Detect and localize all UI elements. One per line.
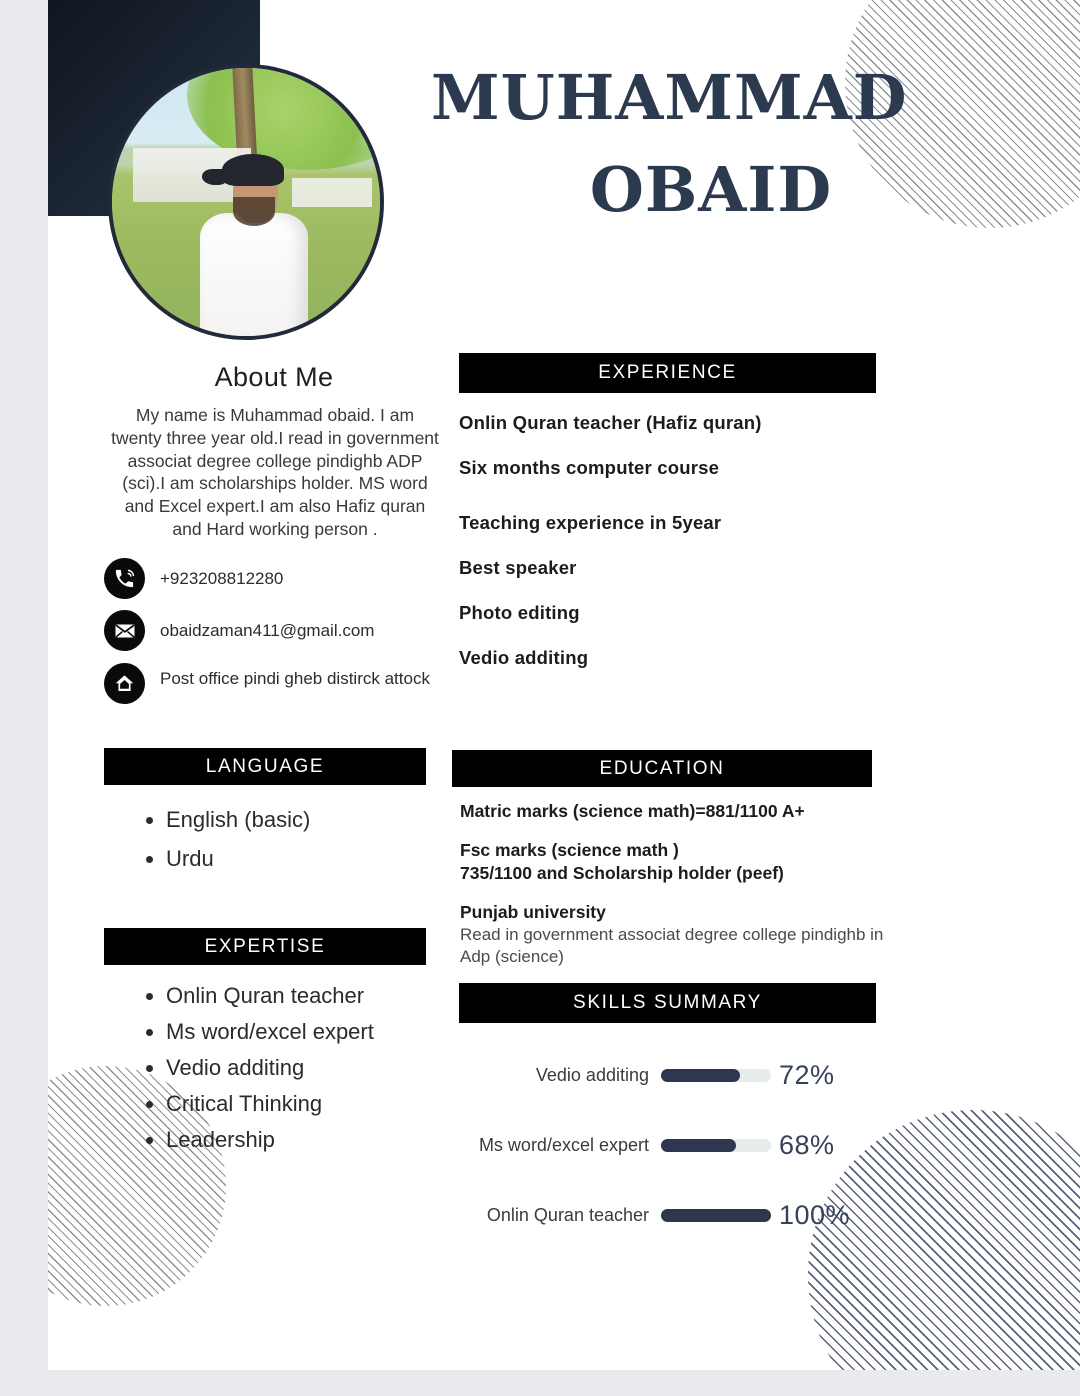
photo-person-shirt (200, 213, 307, 340)
list-item: Critical Thinking (166, 1086, 486, 1122)
list-item: Punjab university Read in government ass… (460, 901, 900, 968)
skill-percent: 72% (771, 1060, 835, 1091)
experience-list: Onlin Quran teacher (Hafiz quran) Six mo… (459, 412, 899, 692)
list-item: Onlin Quran teacher (Hafiz quran) (459, 412, 899, 434)
envelope-icon (104, 610, 145, 651)
skill-progress-fill (661, 1139, 736, 1152)
avatar (108, 64, 384, 340)
list-item: Vedio additing (459, 647, 899, 669)
home-icon (104, 663, 145, 704)
skill-progress-track (661, 1069, 771, 1082)
section-header-experience: EXPERIENCE (459, 353, 876, 393)
phone-icon (104, 558, 145, 599)
skill-progress-track (661, 1139, 771, 1152)
contact-phone[interactable]: +923208812280 (104, 558, 454, 599)
list-item: English (basic) (166, 800, 466, 839)
skill-row: Onlin Quran teacher 100% (459, 1180, 889, 1250)
expertise-list: Onlin Quran teacher Ms word/excel expert… (144, 978, 486, 1158)
list-item: Leadership (166, 1122, 486, 1158)
education-title: Punjab university (460, 901, 900, 924)
education-list: Matric marks (science math)=881/1100 A+ … (460, 800, 900, 984)
page-title: MUHAMMAD OBAID (431, 52, 991, 236)
skill-row: Ms word/excel expert 68% (459, 1110, 889, 1180)
skill-progress-fill (661, 1209, 771, 1222)
language-list: English (basic) Urdu (144, 800, 466, 878)
email-text: obaidzaman411@gmail.com (160, 610, 374, 642)
education-marks: 735/1100 and Scholarship holder (peef) (460, 862, 900, 885)
skill-label: Onlin Quran teacher (459, 1205, 661, 1226)
skill-progress-track (661, 1209, 771, 1222)
list-item: Ms word/excel expert (166, 1014, 486, 1050)
contact-email[interactable]: obaidzaman411@gmail.com (104, 610, 454, 651)
avatar-photo (112, 68, 380, 336)
contact-address[interactable]: Post office pindi gheb distirck attock (104, 663, 454, 704)
about-heading: About Me (104, 362, 444, 393)
skill-percent: 68% (771, 1130, 835, 1161)
skill-percent: 100% (771, 1200, 850, 1231)
list-item: Teaching experience in 5year (459, 512, 899, 534)
list-item: Vedio additing (166, 1050, 486, 1086)
skills-list: Vedio additing 72% Ms word/excel expert … (459, 1040, 889, 1250)
skill-label: Ms word/excel expert (459, 1135, 661, 1156)
photo-person-cap (222, 154, 284, 186)
education-title: Fsc marks (science math ) (460, 839, 900, 862)
photo-building-right (292, 178, 372, 207)
address-text: Post office pindi gheb distirck attock (160, 663, 430, 690)
section-header-skills-summary: SKILLS SUMMARY (459, 983, 876, 1023)
list-item: Photo editing (459, 602, 899, 624)
education-subtitle: Read in government associat degree colle… (460, 924, 900, 968)
section-header-language: LANGUAGE (104, 748, 426, 785)
list-item: Onlin Quran teacher (166, 978, 486, 1014)
list-item: Fsc marks (science math ) 735/1100 and S… (460, 839, 900, 885)
skill-row: Vedio additing 72% (459, 1040, 889, 1110)
name-line-1: MUHAMMAD (431, 61, 908, 134)
about-text: My name is Muhammad obaid. I am twenty t… (110, 404, 440, 541)
list-item: Urdu (166, 839, 466, 878)
resume-page: MUHAMMAD OBAID About Me My name is Muham… (48, 0, 1080, 1370)
name-line-2: OBAID (431, 144, 991, 236)
section-header-expertise: EXPERTISE (104, 928, 426, 965)
list-item: Matric marks (science math)=881/1100 A+ (460, 800, 900, 823)
skill-label: Vedio additing (459, 1065, 661, 1086)
list-item: Best speaker (459, 557, 899, 579)
education-title: Matric marks (science math)=881/1100 A+ (460, 800, 900, 823)
skill-progress-fill (661, 1069, 740, 1082)
section-header-education: EDUCATION (452, 750, 872, 787)
phone-text: +923208812280 (160, 558, 283, 590)
list-item: Six months computer course (459, 457, 899, 479)
